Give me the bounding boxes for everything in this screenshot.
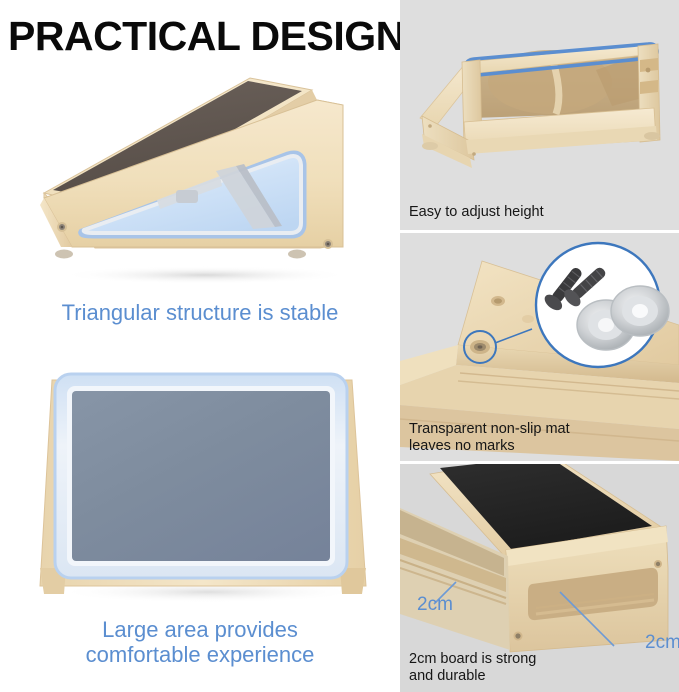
screw-right — [323, 239, 333, 249]
foot-rest-underside-photo — [400, 0, 679, 230]
screw-front-top — [654, 560, 662, 568]
panel-non-slip-mat: Transparent non-slip mat leaves no marks — [400, 233, 679, 461]
dimension-label-front: 2cm — [645, 632, 679, 654]
pad-caption-line2: comfortable experience — [86, 642, 315, 667]
panel-adjust-height: Easy to adjust height — [400, 0, 679, 230]
panel-c-caption-line1: 2cm board is strong — [409, 651, 536, 667]
panel-b-caption-line1: Transparent non-slip mat — [409, 421, 570, 437]
infographic-canvas: PRACTICAL DESIGN — [0, 0, 679, 692]
page-title: PRACTICAL DESIGN — [8, 16, 398, 57]
panel-c-caption-line2: and durable — [409, 668, 486, 684]
base-foot-left — [422, 142, 438, 150]
panel-board-thickness: 2cm 2cm 2cm board is strong and durable — [400, 464, 679, 692]
panel-a-caption: Easy to adjust height — [409, 204, 544, 222]
dowel-hole — [522, 315, 534, 323]
pad-caption-line1: Large area provides — [102, 617, 298, 642]
hero-shadow — [60, 266, 350, 284]
pad-caption: Large area provides comfortable experien… — [20, 617, 380, 668]
panel-b-caption-line2: leaves no marks — [409, 438, 515, 454]
base-foot-right — [644, 132, 660, 140]
pad-surface — [72, 391, 330, 561]
panel-c-caption: 2cm board is strong and durable — [409, 651, 536, 686]
screw-front-bottom — [514, 632, 523, 641]
foot-pad-right — [288, 250, 306, 259]
dimension-label-side: 2cm — [417, 594, 453, 616]
triangular-foot-rest-illustration — [20, 72, 380, 287]
panel-b-caption: Transparent non-slip mat leaves no marks — [409, 421, 570, 456]
screw-left — [57, 222, 67, 232]
left-column: PRACTICAL DESIGN — [0, 0, 398, 692]
foot-pad-left — [55, 250, 73, 259]
right-column: Easy to adjust height — [400, 0, 679, 692]
large-desk-pad-photo — [22, 358, 380, 608]
hero-caption: Triangular structure is stable — [20, 300, 380, 325]
